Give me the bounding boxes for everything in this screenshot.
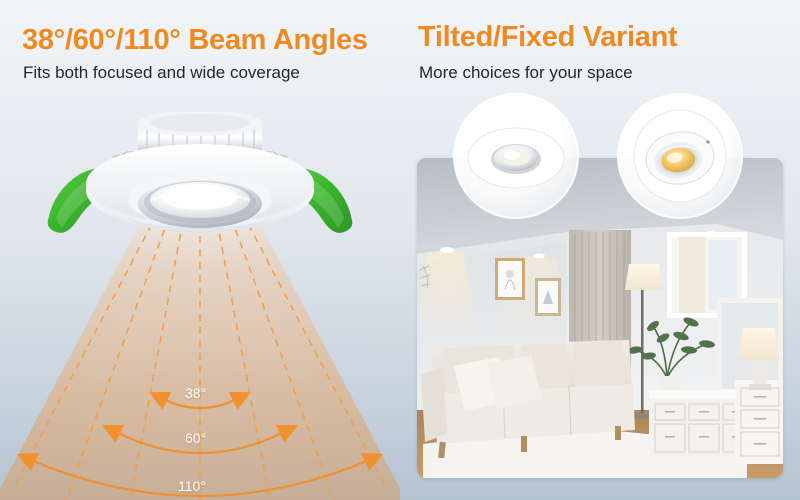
- beam-angle-label-60: 60°: [185, 430, 206, 446]
- right-panel-title: Tilted/Fixed Variant: [418, 21, 677, 54]
- beam-angle-illustration: 38° 60° 110°: [0, 92, 400, 500]
- fixed-downlight-callout: [452, 92, 580, 220]
- promo-banner: 38°/60°/110° Beam Angles Fits both focus…: [0, 0, 800, 500]
- tilted-downlight-callout: [616, 92, 744, 220]
- beam-angle-label-110: 110°: [178, 478, 206, 494]
- right-panel-subtitle: More choices for your space: [419, 63, 633, 83]
- wall-art-large: [495, 258, 525, 300]
- ceiling-downlight-2: [533, 253, 545, 258]
- wall-art-small: [535, 278, 561, 316]
- downlight-lens: [138, 180, 262, 228]
- beam-angle-label-38: 38°: [185, 385, 206, 401]
- downlight-fixture-image: [40, 112, 360, 272]
- left-panel-subtitle: Fits both focused and wide coverage: [23, 63, 300, 83]
- left-panel-title: 38°/60°/110° Beam Angles: [22, 24, 368, 57]
- tall-dresser: [735, 380, 783, 464]
